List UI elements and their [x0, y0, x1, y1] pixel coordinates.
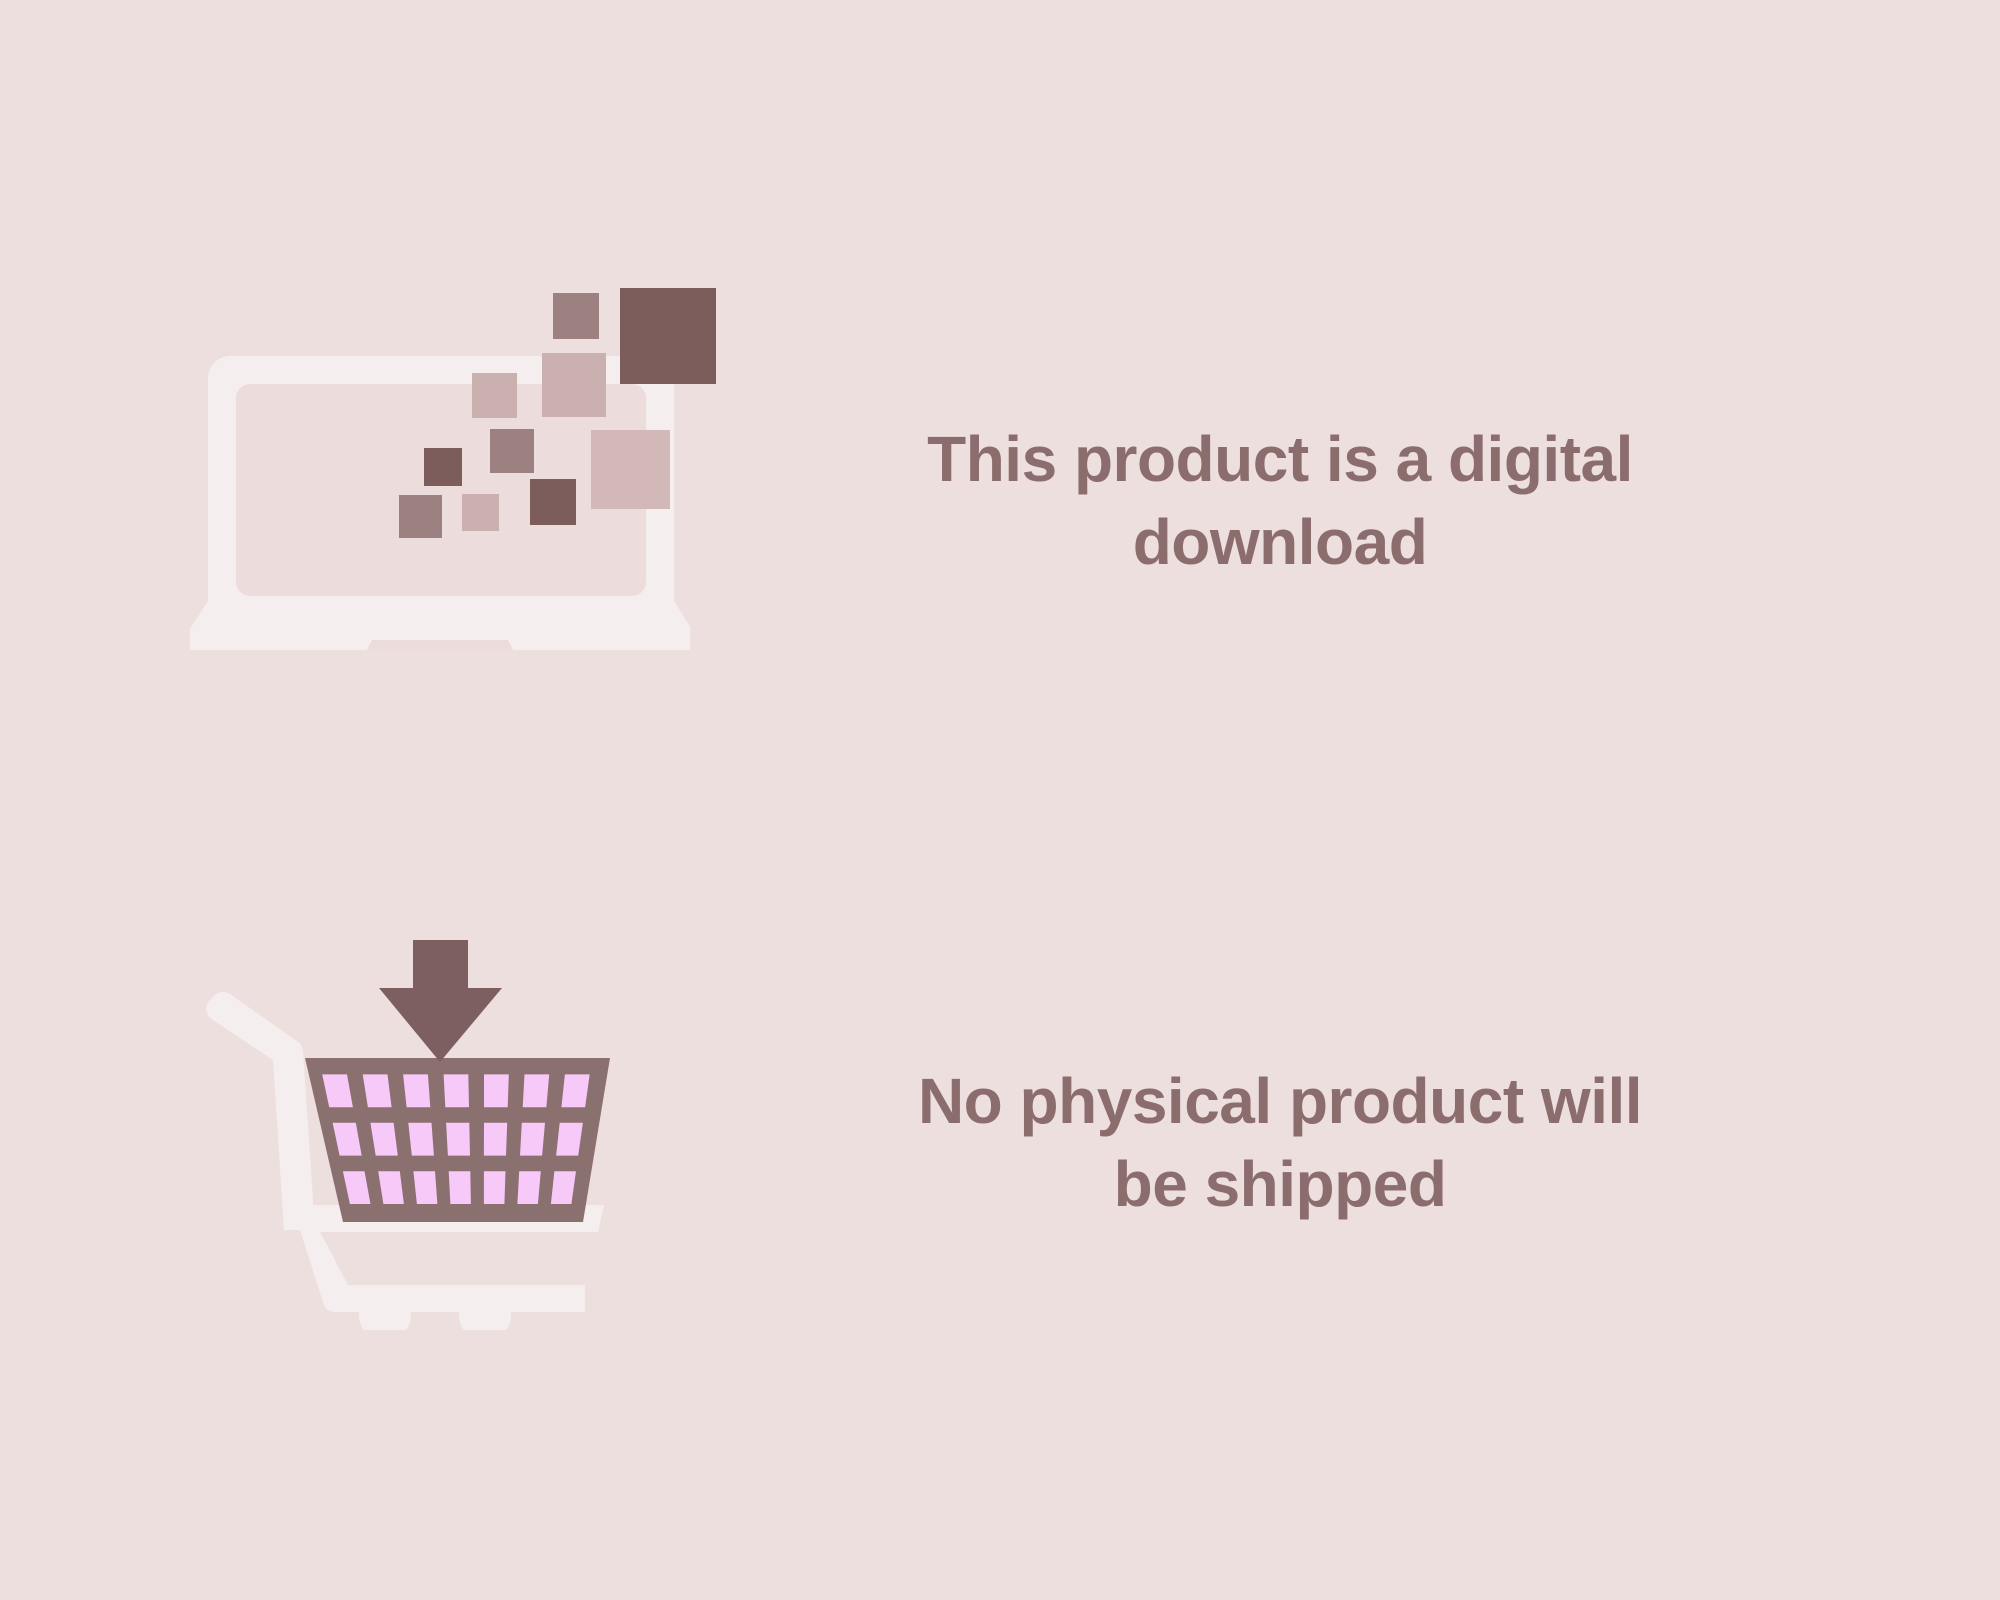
square-2 — [620, 288, 716, 384]
cart-mesh-hole — [413, 1171, 437, 1204]
cart-mesh-hole — [520, 1123, 545, 1156]
cart-mesh-hole — [556, 1123, 583, 1156]
cart-mesh-hole — [523, 1074, 550, 1107]
caption-digital-line-1: This product is a digital — [927, 423, 1633, 495]
square-10 — [462, 494, 499, 531]
cart-mesh-hole — [484, 1171, 506, 1204]
square-1 — [553, 293, 599, 339]
laptop-trackpad — [358, 640, 522, 650]
pixel-squares-cluster — [380, 270, 740, 550]
caption-shipped-line-2: be shipped — [1114, 1148, 1447, 1220]
cart-mesh-hole — [561, 1074, 589, 1107]
caption-digital-download: This product is a digital download — [770, 418, 1790, 584]
cart-mesh-hole — [517, 1171, 540, 1204]
cart-mesh-hole — [444, 1074, 469, 1107]
square-9 — [399, 495, 442, 538]
caption-shipped-line-1: No physical product will — [918, 1065, 1642, 1137]
cart-mesh-hole — [449, 1171, 471, 1204]
caption-no-physical-product: No physical product will be shipped — [770, 1060, 1790, 1226]
square-5 — [490, 429, 534, 473]
cart-mesh-hole — [484, 1074, 509, 1107]
square-7 — [424, 448, 462, 486]
cart-mesh-hole — [484, 1123, 507, 1156]
caption-digital-line-2: download — [1133, 506, 1428, 578]
square-8 — [530, 479, 576, 525]
shopping-cart-with-down-arrow-icon — [180, 930, 650, 1330]
cart-mesh-hole — [446, 1123, 470, 1156]
cart-down-arrow-icon — [379, 940, 502, 1062]
square-3 — [542, 353, 606, 417]
cart-handle — [206, 992, 315, 1230]
square-6 — [591, 430, 670, 509]
cart-mesh-hole — [403, 1074, 430, 1107]
cart-svg — [180, 930, 650, 1330]
cart-mesh-hole — [408, 1123, 434, 1156]
square-4 — [472, 373, 517, 418]
infographic-canvas: This product is a digital download No ph… — [0, 0, 2000, 1600]
